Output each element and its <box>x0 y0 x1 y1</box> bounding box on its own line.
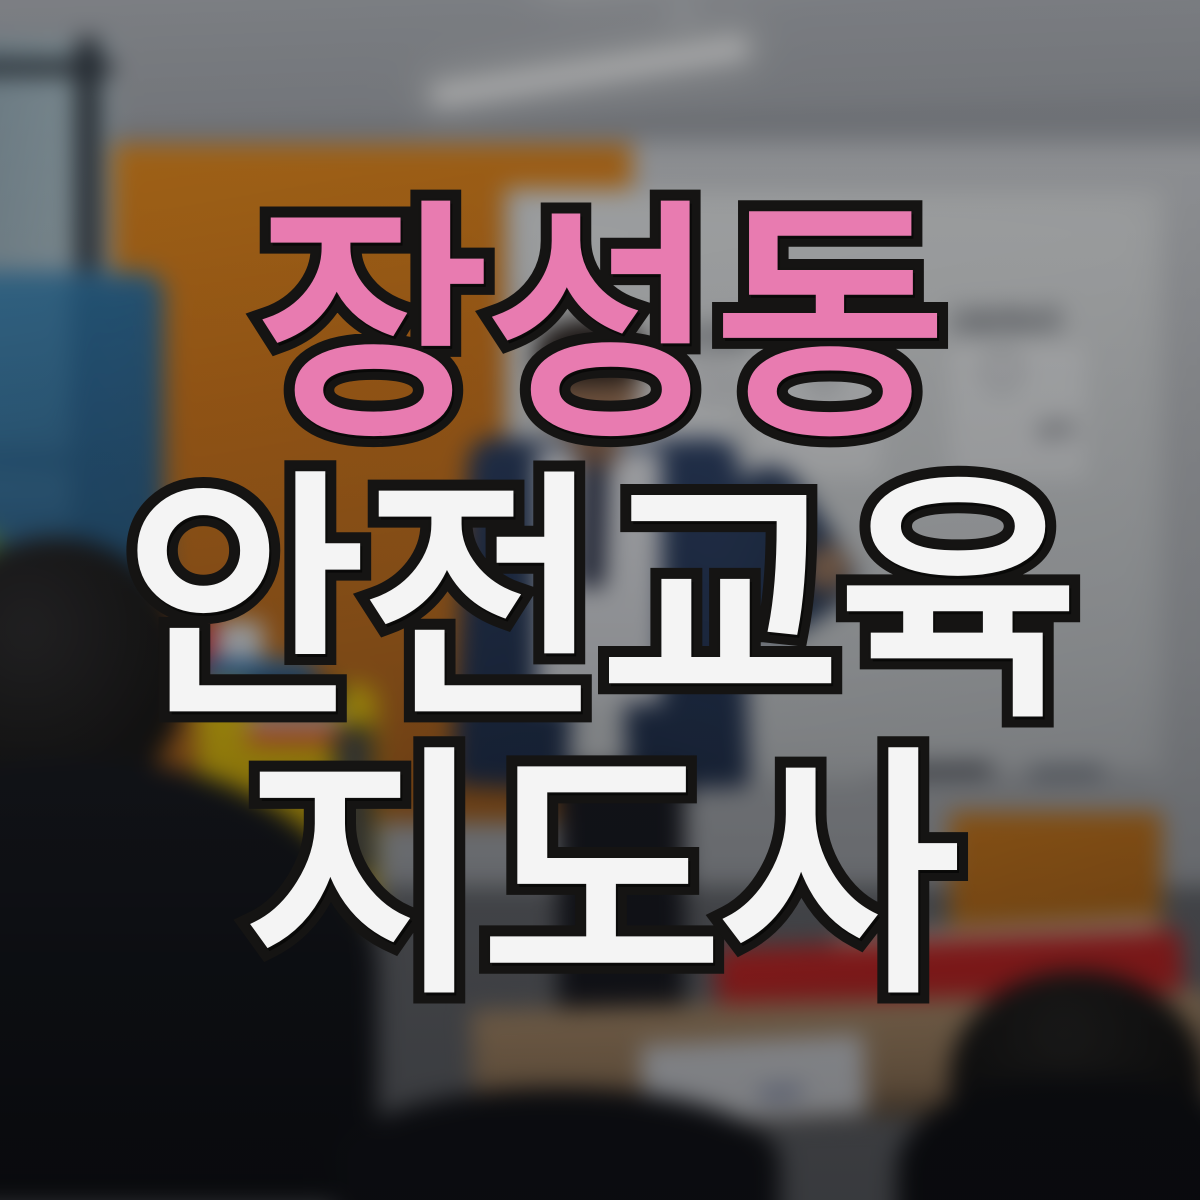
poster-title-line-1: 장성동 <box>257 205 943 449</box>
poster-card: 응어활력 회복식 자동제상군 영억 <box>0 0 1200 1200</box>
poster-title-line-2: 안전교육 <box>124 475 1076 729</box>
poster-title-line-3: 지도사 <box>243 751 957 1005</box>
poster-title-stack: 장성동 안전교육 지도사 <box>0 0 1200 1200</box>
